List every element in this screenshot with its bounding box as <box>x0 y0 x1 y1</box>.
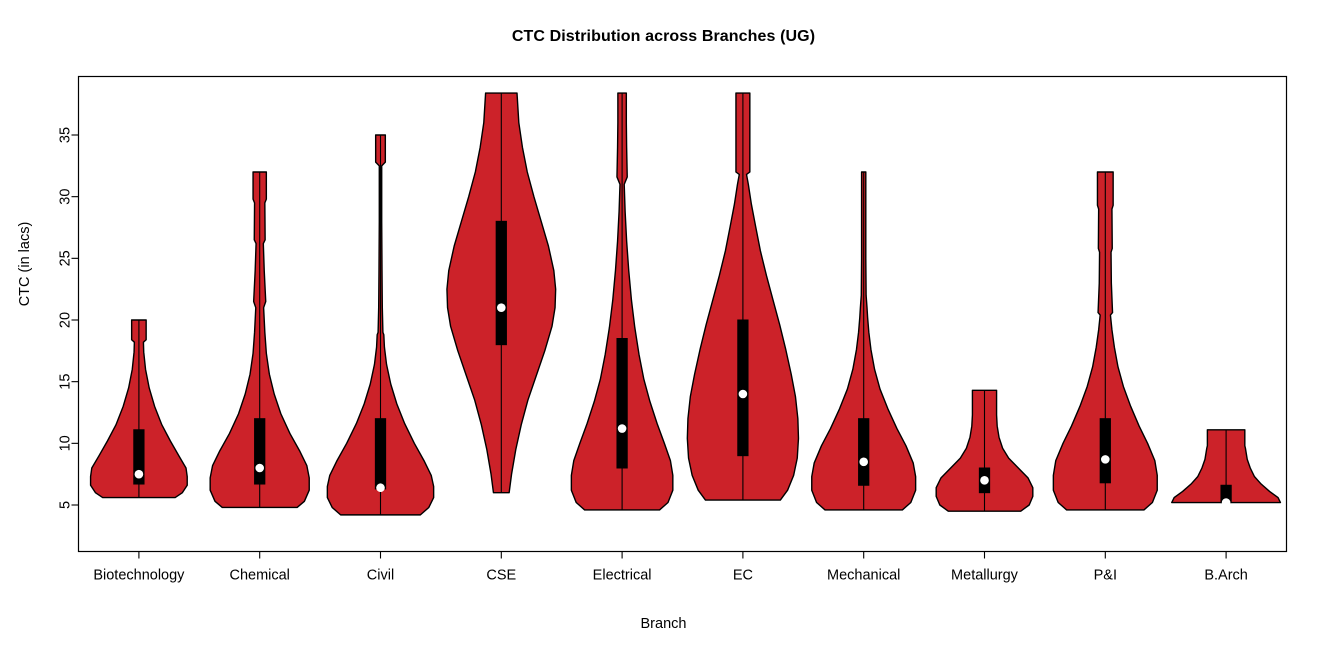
violin-metallurgy <box>936 390 1033 511</box>
svg-text:CSE: CSE <box>486 568 516 584</box>
violin-biotechnology <box>91 320 188 498</box>
median-marker <box>859 458 868 467</box>
violin-cse <box>447 93 556 493</box>
iqr-box <box>859 419 869 486</box>
svg-text:Electrical: Electrical <box>593 568 652 584</box>
median-marker <box>739 390 748 399</box>
median-marker <box>376 483 385 492</box>
median-marker <box>255 464 264 473</box>
median-marker <box>618 424 627 433</box>
svg-text:Civil: Civil <box>367 568 394 584</box>
median-marker <box>1222 498 1231 507</box>
violin-plot-figure: CTC Distribution across Branches (UG) CT… <box>0 0 1327 653</box>
y-axis: 5101520253035 <box>58 127 79 509</box>
svg-text:25: 25 <box>58 250 74 266</box>
svg-text:EC: EC <box>733 568 753 584</box>
median-marker <box>1101 455 1110 464</box>
svg-text:15: 15 <box>58 374 74 390</box>
iqr-box <box>617 339 627 469</box>
svg-text:B.Arch: B.Arch <box>1204 568 1248 584</box>
svg-text:20: 20 <box>58 312 74 328</box>
iqr-box <box>255 419 265 484</box>
svg-text:Mechanical: Mechanical <box>827 568 900 584</box>
svg-text:Metallurgy: Metallurgy <box>951 568 1019 584</box>
iqr-box <box>1100 419 1110 483</box>
violin-electrical <box>571 93 672 510</box>
violin-ec <box>687 93 798 500</box>
plot-area: 5101520253035 BiotechnologyChemicalCivil… <box>0 0 1327 653</box>
iqr-box <box>375 419 385 489</box>
violin-chemical <box>210 172 309 507</box>
svg-text:10: 10 <box>58 435 74 451</box>
violin-civil <box>327 135 433 515</box>
violin-series-group <box>91 93 1281 515</box>
violin-b-arch <box>1172 430 1281 507</box>
violin-mechanical <box>812 172 916 510</box>
svg-text:Biotechnology: Biotechnology <box>93 568 185 584</box>
x-axis: BiotechnologyChemicalCivilCSEElectricalE… <box>93 552 1248 584</box>
iqr-box <box>496 221 506 344</box>
median-marker <box>497 303 506 312</box>
median-marker <box>135 470 144 479</box>
svg-text:30: 30 <box>58 189 74 205</box>
svg-text:5: 5 <box>58 501 74 509</box>
svg-text:35: 35 <box>58 127 74 143</box>
iqr-box <box>738 320 748 456</box>
violin-p-i <box>1053 172 1157 510</box>
svg-text:P&I: P&I <box>1094 568 1117 584</box>
median-marker <box>980 476 989 485</box>
svg-text:Chemical: Chemical <box>229 568 289 584</box>
